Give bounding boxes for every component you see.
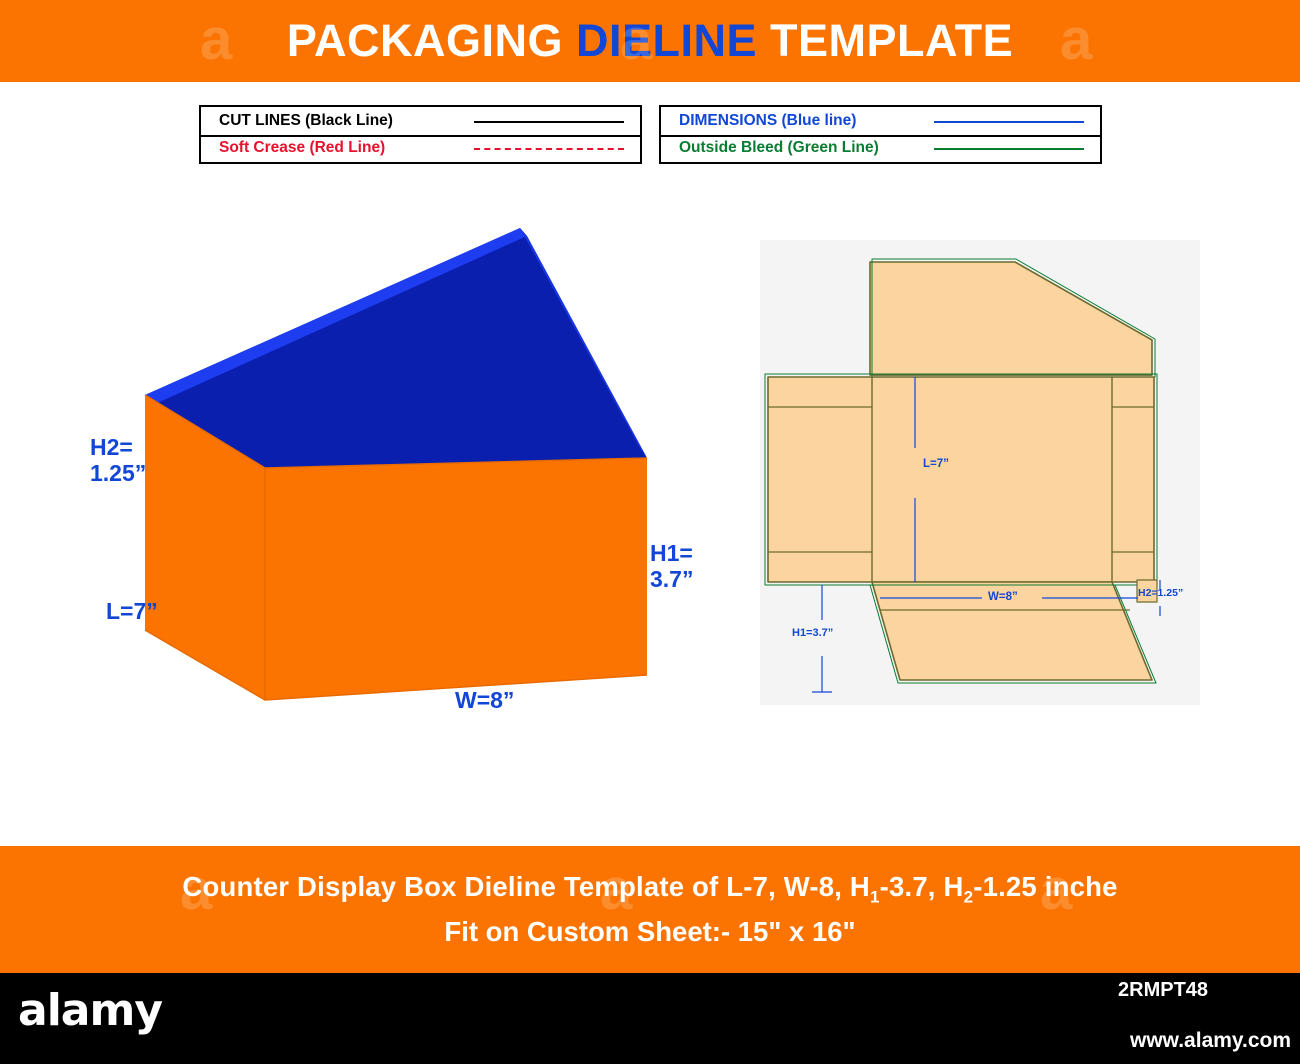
box-inner-bottom <box>153 236 647 468</box>
page-title: PACKAGING DIELINE TEMPLATE <box>287 15 1013 67</box>
alamy-logo: alamy <box>18 985 162 1036</box>
dieline-label-length: L=7” <box>923 458 949 470</box>
legend-row-cut-lines: CUT LINES (Black Line) <box>201 107 640 135</box>
dieline-panel-main <box>768 377 1154 582</box>
label-h1-line1: H1= <box>650 540 693 566</box>
watermark-letter: a <box>200 6 232 73</box>
label-h1-line2: 3.7” <box>650 566 693 592</box>
legend-label-soft-crease: Soft Crease (Red Line) <box>219 139 385 157</box>
description-line-2: Fit on Custom Sheet:- 15" x 16" <box>444 916 855 948</box>
description-sub-1: 1 <box>870 888 880 907</box>
label-h2: H2= 1.25” <box>90 434 146 487</box>
legend-cut-crease: CUT LINES (Black Line) Soft Crease (Red … <box>199 105 642 164</box>
label-width: W=8” <box>455 687 514 713</box>
description-pre: Counter Display Box Dieline Template of … <box>182 871 870 902</box>
legend-row-soft-crease: Soft Crease (Red Line) <box>201 135 640 163</box>
legend-label-outside-bleed: Outside Bleed (Green Line) <box>679 139 879 157</box>
box-3d-svg <box>80 200 760 740</box>
dieline-label-h2: H2=1.25” <box>1138 587 1183 599</box>
watermark-letter: a <box>1060 6 1092 73</box>
title-template: TEMPLATE <box>770 15 1013 66</box>
dieline-label-width: W=8” <box>988 591 1018 603</box>
legend-row-dimensions: DIMENSIONS (Blue line) <box>661 107 1100 135</box>
description-sub-2: 2 <box>964 888 974 907</box>
box-face-front <box>265 458 647 700</box>
description-mid: -3.7, H <box>880 871 964 902</box>
description-line-1: Counter Display Box Dieline Template of … <box>182 871 1117 908</box>
label-h2-line1: H2= <box>90 434 133 460</box>
header-banner: a a a PACKAGING DIELINE TEMPLATE <box>0 0 1300 82</box>
dieline-panel-back <box>870 262 1152 375</box>
description-banner: a a a Counter Display Box Dieline Templa… <box>0 846 1300 973</box>
title-dieline: DIELINE <box>576 15 770 66</box>
box-3d-illustration: H2= 1.25” H1= 3.7” L=7” W=8” <box>80 200 760 740</box>
stock-footer-bar: alamy 2RMPT48 www.alamy.com <box>0 973 1300 1064</box>
label-length: L=7” <box>106 598 158 624</box>
legend-label-cut-lines: CUT LINES (Black Line) <box>219 112 393 130</box>
legend-row-outside-bleed: Outside Bleed (Green Line) <box>661 135 1100 163</box>
alamy-url: www.alamy.com <box>1130 1029 1291 1053</box>
description-post: -1.25 inche <box>973 871 1117 902</box>
label-h1: H1= 3.7” <box>650 540 693 593</box>
dieline-label-h1: H1=3.7” <box>792 627 833 639</box>
image-id: 2RMPT48 <box>1118 979 1208 1002</box>
label-h2-line2: 1.25” <box>90 460 146 486</box>
dieline-flat-layout: L=7” W=8” H1=3.7” H2=1.25” <box>760 240 1200 705</box>
title-packaging: PACKAGING <box>287 15 576 66</box>
legend-label-dimensions: DIMENSIONS (Blue line) <box>679 112 856 130</box>
legend-dimensions-bleed: DIMENSIONS (Blue line) Outside Bleed (Gr… <box>659 105 1102 164</box>
